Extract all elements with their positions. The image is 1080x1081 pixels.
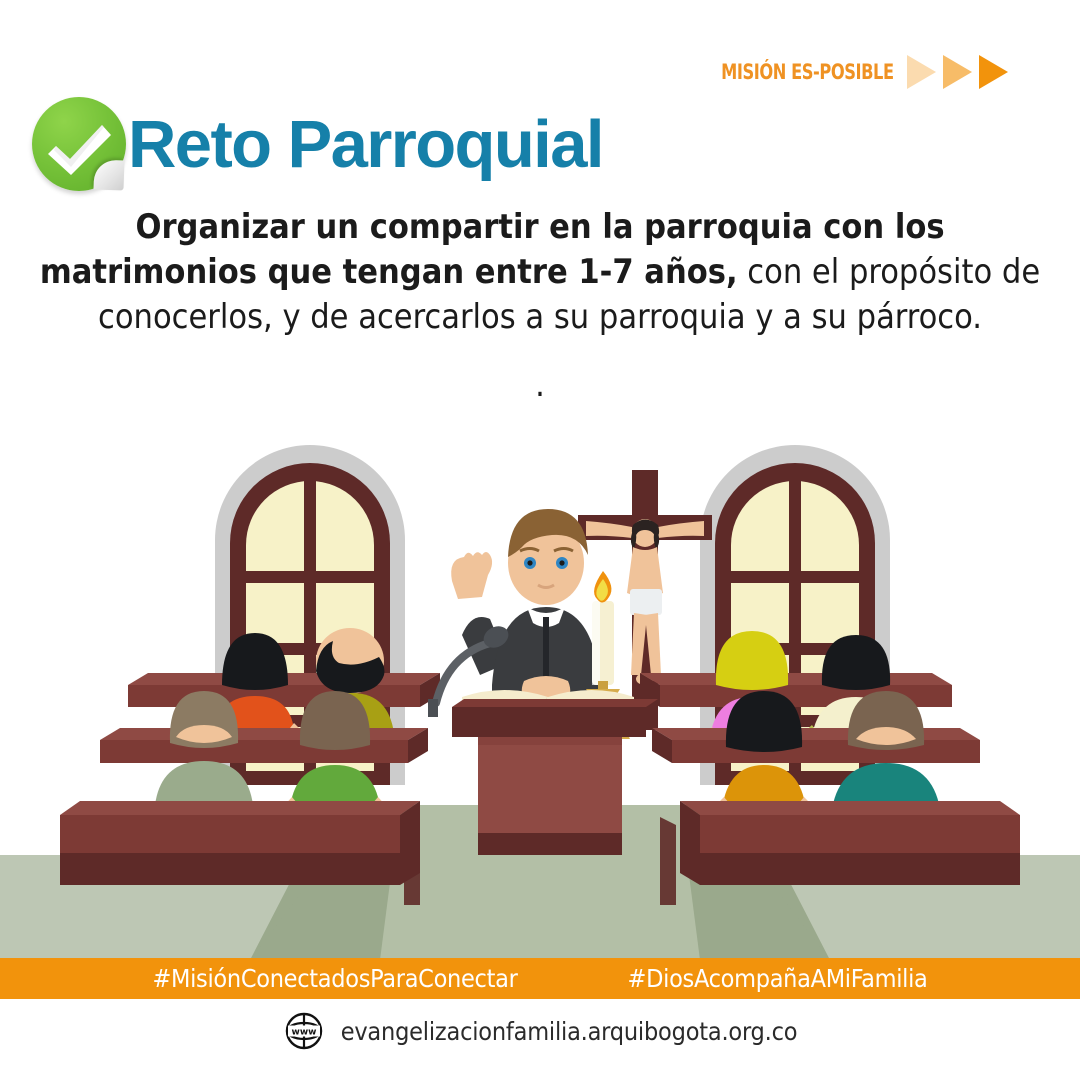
footer: www evangelizacionfamilia.arquibogota.or… bbox=[0, 1010, 1080, 1052]
brand-logo: MISIÓN ES-POSIBLE bbox=[693, 55, 1008, 89]
pews-right bbox=[680, 801, 1020, 885]
church-mass-illustration bbox=[0, 385, 1080, 960]
pews-left bbox=[60, 801, 420, 885]
triangle-right-icon bbox=[943, 55, 972, 89]
page-title-row: Reto Parroquial bbox=[32, 97, 603, 191]
hashtag-bar: #MisiónConectadosParaConectar #DiosAcomp… bbox=[0, 958, 1080, 999]
website-url[interactable]: evangelizacionfamilia.arquibogota.org.co bbox=[341, 1017, 798, 1046]
brand-name: MISIÓN ES-POSIBLE bbox=[721, 60, 894, 84]
hashtag-1: #MisiónConectadosParaConectar bbox=[152, 964, 517, 993]
www-globe-icon: www bbox=[283, 1010, 325, 1052]
challenge-description: Organizar un compartir en la parroquia c… bbox=[38, 205, 1042, 408]
poster-canvas: MISIÓN ES-POSIBLE Reto Parroquial Organi… bbox=[0, 0, 1080, 1081]
green-check-sticker-icon bbox=[32, 97, 126, 191]
svg-text:www: www bbox=[291, 1028, 316, 1038]
arrow-group bbox=[907, 55, 1008, 89]
pews-left bbox=[100, 728, 428, 763]
triangle-right-icon bbox=[907, 55, 936, 89]
triangle-right-icon bbox=[979, 55, 1008, 89]
priest bbox=[451, 509, 600, 715]
hashtag-2: #DiosAcompañaAMiFamilia bbox=[628, 964, 928, 993]
page-title: Reto Parroquial bbox=[128, 111, 603, 178]
pews-right bbox=[652, 728, 980, 763]
